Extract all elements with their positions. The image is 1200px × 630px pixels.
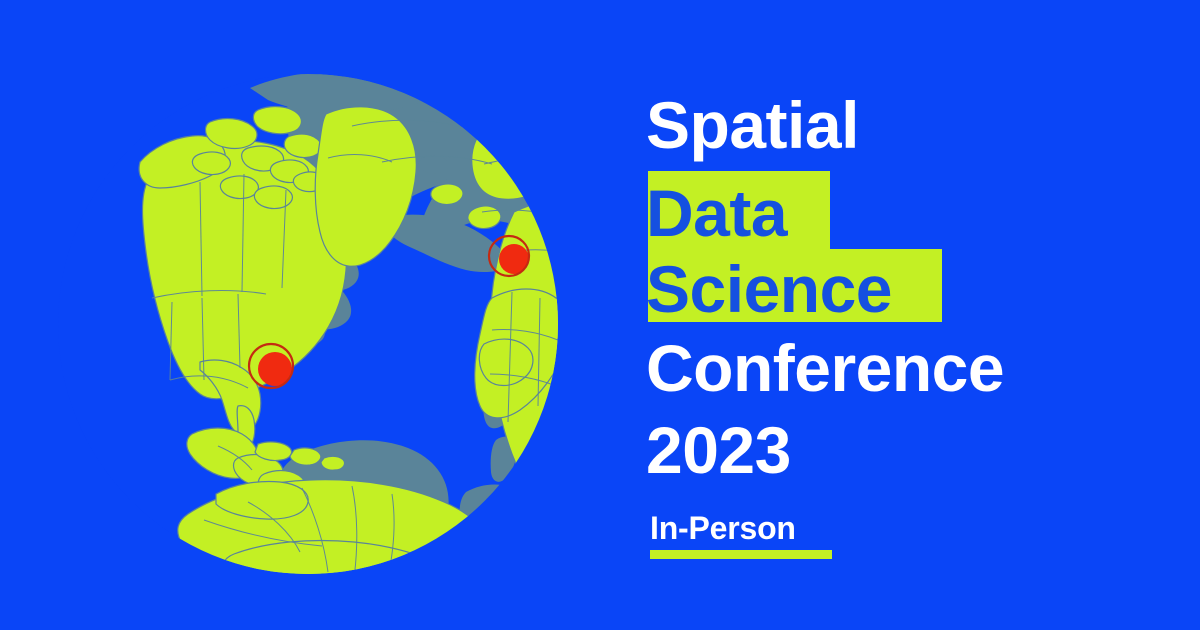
title-line-science: Science bbox=[646, 256, 892, 322]
subtitle-in-person: In-Person bbox=[650, 512, 832, 544]
poster-canvas: Spatial Data Science Conference 2023 In-… bbox=[0, 0, 1200, 630]
title-line-data: Data bbox=[646, 180, 787, 246]
subtitle-block: In-Person bbox=[650, 512, 832, 559]
subtitle-underline bbox=[650, 550, 832, 559]
title-line-year: 2023 bbox=[646, 417, 791, 483]
globe-graphic bbox=[52, 62, 564, 574]
title-line-spatial: Spatial bbox=[646, 92, 859, 158]
title-line-conference: Conference bbox=[646, 335, 1004, 401]
title-block: Spatial Data Science Conference 2023 In-… bbox=[646, 72, 1166, 572]
globe-svg bbox=[52, 62, 564, 574]
